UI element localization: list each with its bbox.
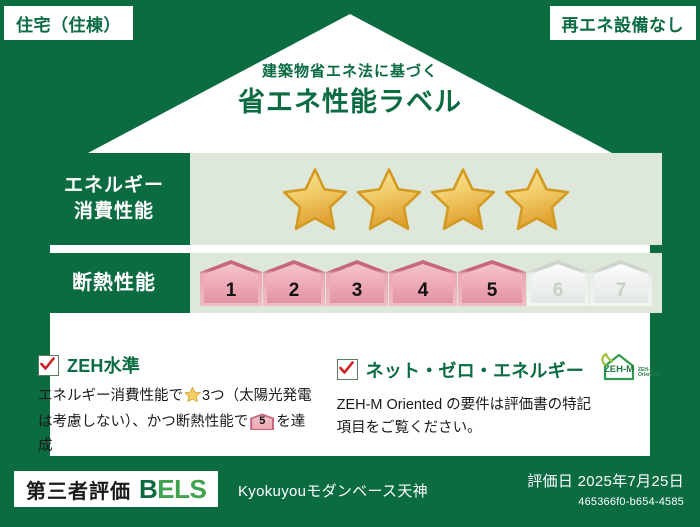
label-footer: 第三者評価 BELS Kyokuyouモダンベース天神 評価日 2025年7月2… [0, 460, 700, 527]
building-name: Kyokuyouモダンベース天神 [238, 480, 428, 501]
insulation-performance-row: 断熱性能 1234567 [38, 253, 662, 313]
inline-level-badge: 5 [250, 413, 274, 430]
energy-label-line1: エネルギー [64, 173, 164, 199]
insulation-label-text: 断熱性能 [72, 270, 156, 297]
insulation-level-number: 4 [389, 280, 457, 302]
energy-performance-row: エネルギー 消費性能 [38, 153, 662, 245]
performance-rows: エネルギー 消費性能 断熱性能 1234567 [38, 153, 662, 321]
criteria-section: ZEH水準 エネルギー消費性能で3つ（太陽光発電 は考慮しない）、かつ断熱性能で… [38, 352, 662, 458]
renewable-equipment-tag: 再エネ設備なし [550, 6, 697, 40]
zeh-m-oriented-logo-icon: ZEH-M ZEH-M Oriented [598, 352, 662, 387]
insulation-level-number: 3 [326, 280, 388, 302]
inline-level-badge-number: 5 [250, 413, 274, 430]
insulation-level-number: 1 [200, 280, 262, 302]
insulation-level-5: 5 [458, 260, 526, 306]
criterion-zeh-text-2: 3つ（太陽光発電 [202, 388, 312, 404]
third-party-eval-label: 第三者評価 [26, 475, 131, 504]
criterion-zeh-title: ZEH水準 [67, 352, 140, 378]
evaluation-date: 評価日 2025年7月25日 [527, 470, 684, 491]
insulation-level-scale: 1234567 [200, 260, 652, 306]
criterion-zeh-header: ZEH水準 [38, 352, 315, 378]
inline-star-icon [184, 391, 201, 407]
bels-logo-els: ELS [157, 474, 206, 504]
star-filled-icon [280, 165, 350, 233]
checkbox-checked-icon[interactable] [38, 355, 59, 376]
evaluation-id: 465366f0-b654-4585 [527, 496, 684, 508]
insulation-level-6: 6 [527, 260, 589, 306]
criterion-netzero-text-2: 項目をご覧ください。 [337, 420, 482, 436]
heading-title: 省エネ性能ラベル [0, 85, 700, 120]
star-filled-icon [428, 165, 498, 233]
svg-text:ZEH-M: ZEH-M [604, 364, 634, 375]
criterion-netzero-body: ZEH-M Oriented の要件は評価書の特記 項目をご覧ください。 [337, 394, 662, 441]
insulation-level-number: 5 [458, 280, 526, 302]
insulation-level-7: 7 [590, 260, 652, 306]
criterion-netzero: ネット・ゼロ・エネルギー ZEH-M ZEH-M Oriented ZEH-M … [337, 352, 662, 458]
energy-label-line2: 消費性能 [74, 199, 154, 225]
building-type-label: 住宅（住棟） [16, 11, 121, 36]
star-rating [280, 165, 572, 233]
insulation-level-3: 3 [326, 260, 388, 306]
building-type-tag: 住宅（住棟） [4, 6, 133, 40]
insulation-level-2: 2 [263, 260, 325, 306]
insulation-level-1: 1 [200, 260, 262, 306]
energy-performance-label: 住宅（住棟） 再エネ設備なし 建築物省エネ法に基づく 省エネ性能ラベル エネルギ… [0, 0, 700, 527]
insulation-performance-label: 断熱性能 [38, 253, 190, 313]
criterion-zeh-text-3: は考慮しない）、かつ断熱性能で [38, 414, 248, 430]
insulation-level-number: 7 [590, 280, 652, 302]
checkbox-checked-icon[interactable] [337, 359, 358, 380]
label-heading: 建築物省エネ法に基づく 省エネ性能ラベル [0, 62, 700, 120]
evaluation-info: 評価日 2025年7月25日 465366f0-b654-4585 [527, 470, 684, 508]
insulation-level-number: 2 [263, 280, 325, 302]
criterion-zeh-body: エネルギー消費性能で3つ（太陽光発電 は考慮しない）、かつ断熱性能で5を達成 [38, 385, 315, 458]
criterion-netzero-title: ネット・ゼロ・エネルギー [366, 357, 584, 383]
energy-performance-value [190, 153, 662, 245]
criterion-netzero-header: ネット・ゼロ・エネルギー ZEH-M ZEH-M Oriented [337, 352, 662, 387]
criterion-zeh-text-1: エネルギー消費性能で [38, 388, 183, 404]
bels-logo-text: BELS [139, 474, 206, 505]
heading-subtitle: 建築物省エネ法に基づく [0, 62, 700, 82]
insulation-level-4: 4 [389, 260, 457, 306]
bels-badge: 第三者評価 BELS [14, 471, 218, 507]
insulation-performance-value: 1234567 [190, 253, 662, 313]
criterion-zeh: ZEH水準 エネルギー消費性能で3つ（太陽光発電 は考慮しない）、かつ断熱性能で… [38, 352, 315, 458]
svg-text:Oriented: Oriented [638, 372, 659, 378]
insulation-level-number: 6 [527, 280, 589, 302]
star-filled-icon [502, 165, 572, 233]
energy-performance-label: エネルギー 消費性能 [38, 153, 190, 245]
criterion-netzero-text-1: ZEH-M Oriented の要件は評価書の特記 [337, 397, 592, 413]
renewable-equipment-label: 再エネ設備なし [562, 11, 685, 36]
bels-logo-b: B [139, 474, 157, 504]
star-filled-icon [354, 165, 424, 233]
